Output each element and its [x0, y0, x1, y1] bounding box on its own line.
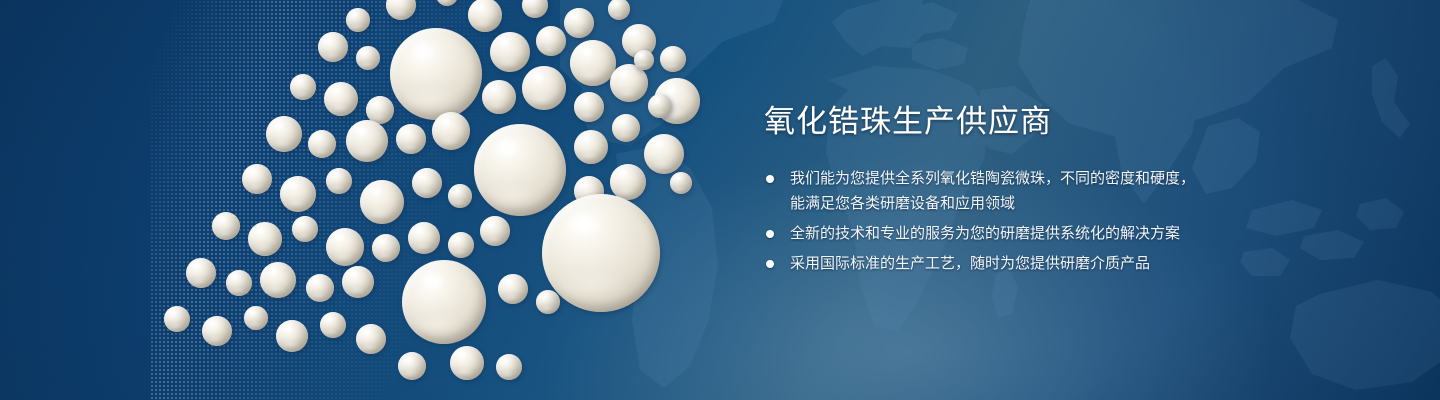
- page-title: 氧化锆珠生产供应商: [764, 104, 1234, 140]
- banner-copy: 氧化锆珠生产供应商 我们能为您提供全系列氧化锆陶瓷微珠，不同的密度和硬度， 能满…: [764, 104, 1234, 276]
- bullet-dot-icon: [766, 260, 774, 268]
- list-item-line: 全新的技术和专业的服务为您的研磨提供系统化的解决方案: [790, 221, 1234, 246]
- list-item: 全新的技术和专业的服务为您的研磨提供系统化的解决方案: [764, 221, 1234, 246]
- list-item-line: 采用国际标准的生产工艺，随时为您提供研磨介质产品: [790, 251, 1234, 276]
- feature-list: 我们能为您提供全系列氧化锆陶瓷微珠，不同的密度和硬度， 能满足您各类研磨设备和应…: [764, 166, 1234, 276]
- list-item-line: 能满足您各类研磨设备和应用领域: [790, 191, 1234, 216]
- list-item: 采用国际标准的生产工艺，随时为您提供研磨介质产品: [764, 251, 1234, 276]
- list-item: 我们能为您提供全系列氧化锆陶瓷微珠，不同的密度和硬度， 能满足您各类研磨设备和应…: [764, 166, 1234, 216]
- bullet-dot-icon: [766, 175, 774, 183]
- list-item-line: 我们能为您提供全系列氧化锆陶瓷微珠，不同的密度和硬度，: [790, 166, 1234, 191]
- hero-banner: 氧化锆珠生产供应商 我们能为您提供全系列氧化锆陶瓷微珠，不同的密度和硬度， 能满…: [0, 0, 1440, 400]
- bullet-dot-icon: [766, 230, 774, 238]
